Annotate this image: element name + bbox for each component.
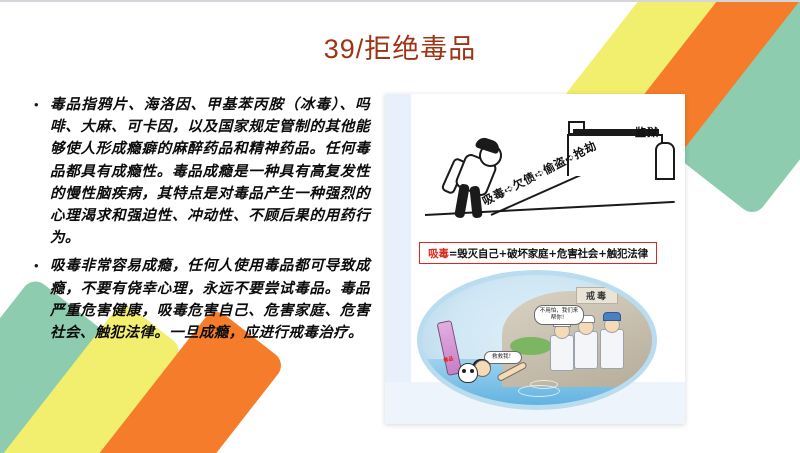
bullet-marker-icon: •: [30, 255, 50, 277]
illustration-panel: 监狱 吸毒➪欠债➪偷盗➪抢劫 吸毒=毁灭自己+破坏家庭+危害社会+触犯法律 戒毒…: [385, 94, 685, 424]
presentation-slide: 39/拒绝毒品 • 毒品指鸦片、海洛因、甲基苯丙胺（冰毒）、吗啡、大麻、可卡因，…: [0, 0, 800, 453]
skull-icon: [458, 363, 478, 383]
bullet-list: • 毒品指鸦片、海洛因、甲基苯丙胺（冰毒）、吗啡、大麻、可卡因，以及国家规定管制…: [30, 94, 370, 350]
rescuer-body: [574, 331, 598, 369]
prison-gate: [655, 142, 675, 180]
rescuer-body: [600, 329, 624, 369]
bullet-marker-icon: •: [30, 94, 50, 116]
list-item: • 毒品指鸦片、海洛因、甲基苯丙胺（冰毒）、吗啡、大麻、可卡因，以及国家规定管制…: [30, 94, 370, 249]
speech-bubble-victim: 救救我！: [484, 351, 522, 364]
warning-equation-text: 吸毒=毁灭自己+破坏家庭+危害社会+触犯法律: [428, 246, 648, 261]
rescuer-body: [550, 335, 574, 371]
prison-label: 监狱: [635, 124, 659, 140]
rescuer-cap: [603, 312, 621, 321]
equation-lead: 吸毒: [428, 248, 449, 260]
cartoon-downward-spiral: 监狱 吸毒➪欠债➪偷盗➪抢劫: [395, 102, 677, 252]
rehab-center-sign: 戒毒: [576, 287, 618, 304]
warning-equation-box: 吸毒=毁灭自己+破坏家庭+危害社会+触犯法律: [419, 242, 657, 264]
equation-rest: =毁灭自己+破坏家庭+危害社会+触犯法律: [449, 248, 648, 260]
cartoon-rescue-scene: 戒毒 不用怕，我们来帮你！ 救救我！ 毒品: [417, 270, 657, 410]
bullet-text: 吸毒非常容易成瘾，任何人使用毒品都可导致成瘾，不要有侥幸心理，永远不要尝试毒品。…: [50, 255, 370, 344]
water-ripple: [530, 380, 558, 389]
slide-title: 39/拒绝毒品: [0, 32, 800, 66]
speech-bubble-doctor: 不用怕，我们来帮你！: [534, 305, 584, 325]
bullet-text: 毒品指鸦片、海洛因、甲基苯丙胺（冰毒）、吗啡、大麻、可卡因，以及国家规定管制的其…: [50, 94, 370, 249]
list-item: • 吸毒非常容易成瘾，任何人使用毒品都可导致成瘾，不要有侥幸心理，永远不要尝试毒…: [30, 255, 370, 344]
